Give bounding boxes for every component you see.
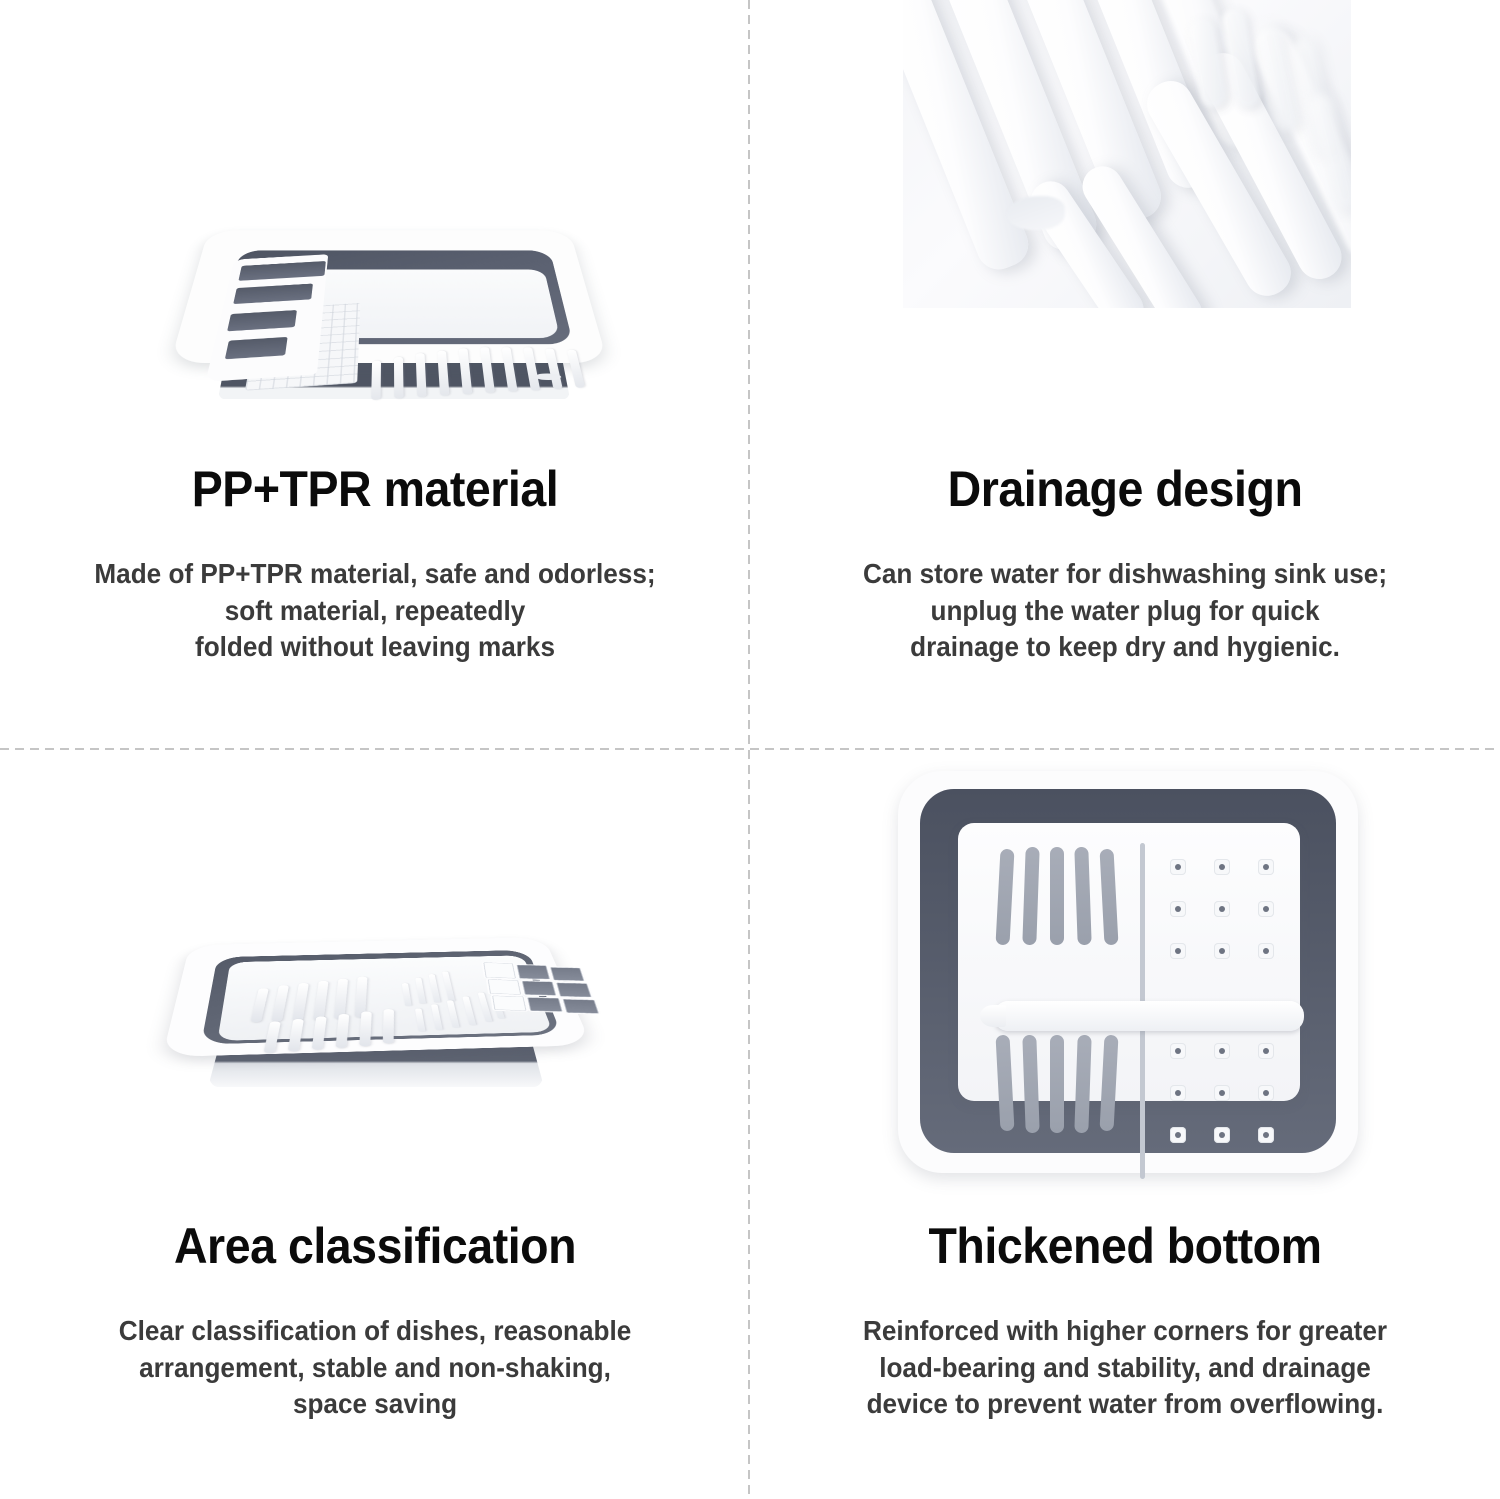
feature-title: Drainage design — [776, 460, 1474, 518]
feature-panel-pp-tpr-material: PP+TPR material Made of PP+TPR material,… — [0, 0, 750, 750]
feature-title: Area classification — [26, 1217, 724, 1275]
dish-rack-compartments-illustration — [150, 789, 620, 1119]
feature-panel-area-classification: Area classification Clear classification… — [0, 749, 750, 1499]
feature-description: Made of PP+TPR material, safe and odorle… — [40, 556, 711, 666]
rack-outer-rim — [162, 937, 591, 1057]
tpr-grey-band — [218, 250, 573, 344]
cutlery-compartments — [206, 254, 329, 382]
product-image-area-classification — [0, 749, 750, 1204]
drain-tray-insert — [958, 823, 1300, 1101]
tpr-grey-band — [920, 789, 1336, 1153]
drain-plug-notch — [534, 373, 562, 380]
feature-title: Thickened bottom — [776, 1217, 1474, 1275]
dish-rack-topdown-illustration — [898, 771, 1358, 1181]
cutlery-grid-compartments — [481, 962, 611, 1023]
product-image-pp-tpr-material — [0, 0, 750, 440]
dish-rack-open-illustration — [160, 95, 615, 415]
feature-description: Clear classification of dishes, reasonab… — [40, 1313, 711, 1423]
feature-description: Can store water for dishwashing sink use… — [790, 556, 1461, 666]
rack-divider-tray — [217, 955, 552, 1041]
tpr-grey-band — [201, 950, 562, 1044]
feature-panel-thickened-bottom: Thickened bottom Reinforced with higher … — [750, 749, 1500, 1499]
dish-fin-row — [371, 300, 629, 400]
feature-panel-drainage-design: Drainage design Can store water for dish… — [750, 0, 1500, 750]
feature-description: Reinforced with higher corners for great… — [790, 1313, 1461, 1423]
drainage-fins-macro-photo — [903, 0, 1351, 308]
center-drain-bar — [994, 1001, 1304, 1031]
product-image-drainage-design — [750, 0, 1500, 440]
rack-outer-rim — [898, 771, 1358, 1173]
infographic-page: PP+TPR material Made of PP+TPR material,… — [0, 0, 1500, 1499]
product-image-thickened-bottom — [750, 749, 1500, 1204]
rack-outer-rim — [170, 230, 608, 363]
feature-title: PP+TPR material — [26, 460, 724, 518]
